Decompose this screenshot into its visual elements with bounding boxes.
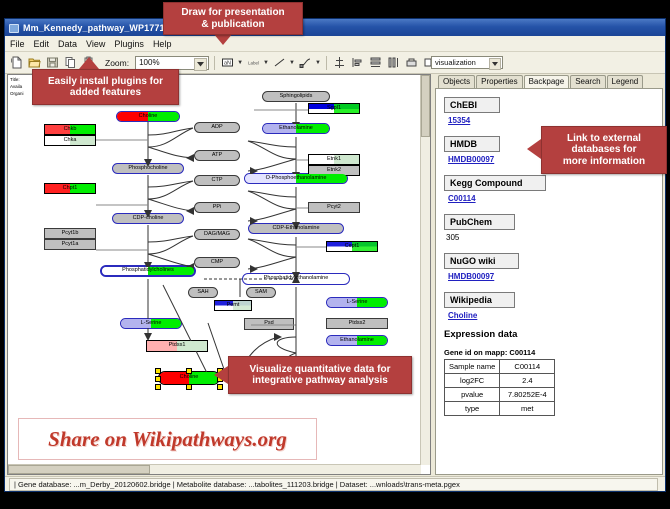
open-file-icon[interactable]	[27, 55, 42, 70]
copy-icon[interactable]	[63, 55, 78, 70]
section-header-hmdb: HMDB	[444, 136, 500, 152]
interaction-tool-icon[interactable]	[298, 55, 313, 70]
selection-handle[interactable]	[186, 384, 192, 390]
gene-node[interactable]: Chkb	[44, 124, 96, 135]
visualization-value: visualization	[435, 58, 476, 67]
selection-handle[interactable]	[155, 368, 161, 374]
line-dropdown-arrow-icon[interactable]: ▼	[289, 60, 295, 66]
gene-node[interactable]: Pemt	[214, 300, 252, 311]
visualization-select[interactable]: visualization	[431, 56, 503, 69]
link-kegg-compound[interactable]: C00114	[448, 194, 654, 203]
tab-legend[interactable]: Legend	[607, 75, 644, 88]
callout-visualize-line2: integrative pathway analysis	[252, 375, 388, 387]
expression-data-table: Sample name C00114 log2FC 2.4 pvalue 7.8…	[444, 359, 555, 416]
menu-item-plugins[interactable]: Plugins	[114, 39, 144, 49]
callout-plugins-line1: Easily install plugins for	[48, 76, 163, 88]
status-text: | Gene database: ...m_Derby_20120602.bri…	[9, 478, 658, 491]
expression-data-title: Expression data	[444, 329, 654, 340]
table-row: Sample name C00114	[445, 360, 555, 374]
selection-handle[interactable]	[186, 368, 192, 374]
table-row: log2FC 2.4	[445, 374, 555, 388]
link-wikipedia[interactable]: Choline	[448, 311, 654, 320]
menu-item-edit[interactable]: Edit	[34, 39, 50, 49]
callout-share: Share on Wikipathways.org	[18, 418, 317, 460]
callout-links-line3: more information	[563, 156, 645, 168]
link-nugo-wiki[interactable]: HMDB00097	[448, 272, 654, 281]
pathway-canvas[interactable]: Title: Availa Organi	[7, 74, 431, 475]
toolbar-separator	[214, 56, 215, 70]
callout-draw: Draw for presentation & publication	[163, 2, 303, 35]
callout-links: Link to external databases for more info…	[541, 126, 667, 174]
tab-search[interactable]: Search	[570, 75, 605, 88]
menu-item-help[interactable]: Help	[153, 39, 172, 49]
menu-item-data[interactable]: Data	[58, 39, 77, 49]
metabolite-node[interactable]: Ethanolamine	[262, 123, 330, 134]
zoom-select[interactable]: 100%	[135, 56, 209, 70]
label-dropdown-arrow-icon[interactable]: ▼	[263, 60, 269, 66]
title-bar: Mm_Kennedy_pathway_WP1771_45176.gpml	[5, 19, 665, 36]
metabolite-node[interactable]: Choline	[116, 111, 180, 122]
tab-objects[interactable]: Objects	[438, 75, 475, 88]
label-tool-icon[interactable]: Label	[246, 55, 261, 70]
section-header-kegg-compound: Kegg Compound	[444, 175, 546, 191]
group-icon[interactable]	[404, 55, 419, 70]
gene-node[interactable]: Ptdss1	[146, 340, 208, 352]
new-file-icon[interactable]	[9, 55, 24, 70]
status-bar: | Gene database: ...m_Derby_20120602.bri…	[5, 476, 665, 491]
cell-value: 7.80252E-4	[500, 388, 555, 402]
gene-node[interactable]: Sgpl1	[308, 103, 360, 114]
callout-links-line2: databases for	[571, 144, 636, 156]
link-chebi[interactable]: 15354	[448, 116, 654, 125]
metabolite-node[interactable]: O-Phosphoethanolamine	[244, 173, 348, 184]
section-header-chebi: ChEBI	[444, 97, 500, 113]
tab-properties[interactable]: Properties	[476, 75, 522, 88]
save-file-icon[interactable]	[45, 55, 60, 70]
callout-links-arrow	[527, 139, 541, 159]
align-left-icon[interactable]	[350, 55, 365, 70]
interaction-dropdown-arrow-icon[interactable]: ▼	[315, 60, 321, 66]
svg-text:aN: aN	[224, 61, 231, 67]
gene-id-on-mapp: Gene id on mapp: C00114	[444, 348, 654, 357]
callout-draw-line1: Draw for presentation	[181, 7, 284, 19]
menu-item-file[interactable]: File	[10, 39, 25, 49]
callout-visualize-line1: Visualize quantitative data for	[250, 364, 391, 376]
datanode-dropdown-arrow-icon[interactable]: ▼	[237, 60, 243, 66]
datanode-icon[interactable]: aN	[220, 55, 235, 70]
pathvisio-app-icon	[8, 22, 19, 33]
toolbar-separator-2	[326, 56, 327, 70]
metabolite-node[interactable]: L-Serine	[326, 297, 388, 308]
side-panel-tabs: Objects Properties Backpage Search Legen…	[435, 74, 663, 88]
section-header-pubchem: PubChem	[444, 214, 515, 230]
gene-node[interactable]: Chka	[44, 135, 96, 146]
gene-node[interactable]: Chpt1	[44, 183, 96, 194]
callout-visualize-arrow	[214, 366, 228, 384]
tab-backpage[interactable]: Backpage	[524, 75, 570, 89]
metabolite-node[interactable]: Ethanolamine	[326, 335, 388, 346]
callout-plugins-line2: added features	[70, 87, 141, 99]
pathway-edges	[8, 75, 431, 475]
cell-value: 2.4	[500, 374, 555, 388]
svg-text:Label: Label	[248, 60, 259, 65]
cell-label: Sample name	[445, 360, 500, 374]
zoom-label: Zoom:	[105, 58, 129, 68]
gene-node[interactable]: Etnk1	[308, 154, 360, 165]
distribute-horizontal-icon[interactable]	[386, 55, 401, 70]
cell-label: type	[445, 402, 500, 416]
callout-share-text: Share on Wikipathways.org	[48, 427, 287, 452]
callout-plugins-arrow	[79, 57, 99, 69]
cell-label: log2FC	[445, 374, 500, 388]
section-header-nugo-wiki: NuGO wiki	[444, 253, 519, 269]
metabolite-node[interactable]: L-Serine	[120, 318, 182, 329]
selection-handle[interactable]	[217, 384, 223, 390]
callout-draw-line2: & publication	[201, 19, 264, 31]
callout-plugins: Easily install plugins for added feature…	[32, 69, 179, 105]
cell-value: met	[500, 402, 555, 416]
line-tool-icon[interactable]	[272, 55, 287, 70]
cell-label: pvalue	[445, 388, 500, 402]
gene-node[interactable]: Cept1	[326, 241, 378, 252]
value-pubchem: 305	[446, 233, 654, 242]
zoom-value: 100%	[139, 58, 159, 67]
selection-handle[interactable]	[155, 384, 161, 390]
selection-handle[interactable]	[155, 376, 161, 382]
table-row: type met	[445, 402, 555, 416]
section-header-wikipedia: Wikipedia	[444, 292, 515, 308]
menu-item-view[interactable]: View	[86, 39, 105, 49]
align-center-icon[interactable]	[332, 55, 347, 70]
cell-value: C00114	[500, 360, 555, 374]
table-row: pvalue 7.80252E-4	[445, 388, 555, 402]
chevron-down-icon[interactable]	[489, 58, 501, 70]
callout-links-line1: Link to external	[567, 133, 641, 145]
menu-bar: File Edit Data View Plugins Help	[5, 36, 665, 52]
distribute-vertical-icon[interactable]	[368, 55, 383, 70]
chevron-down-icon[interactable]	[194, 58, 207, 71]
callout-visualize: Visualize quantitative data for integrat…	[228, 356, 412, 394]
